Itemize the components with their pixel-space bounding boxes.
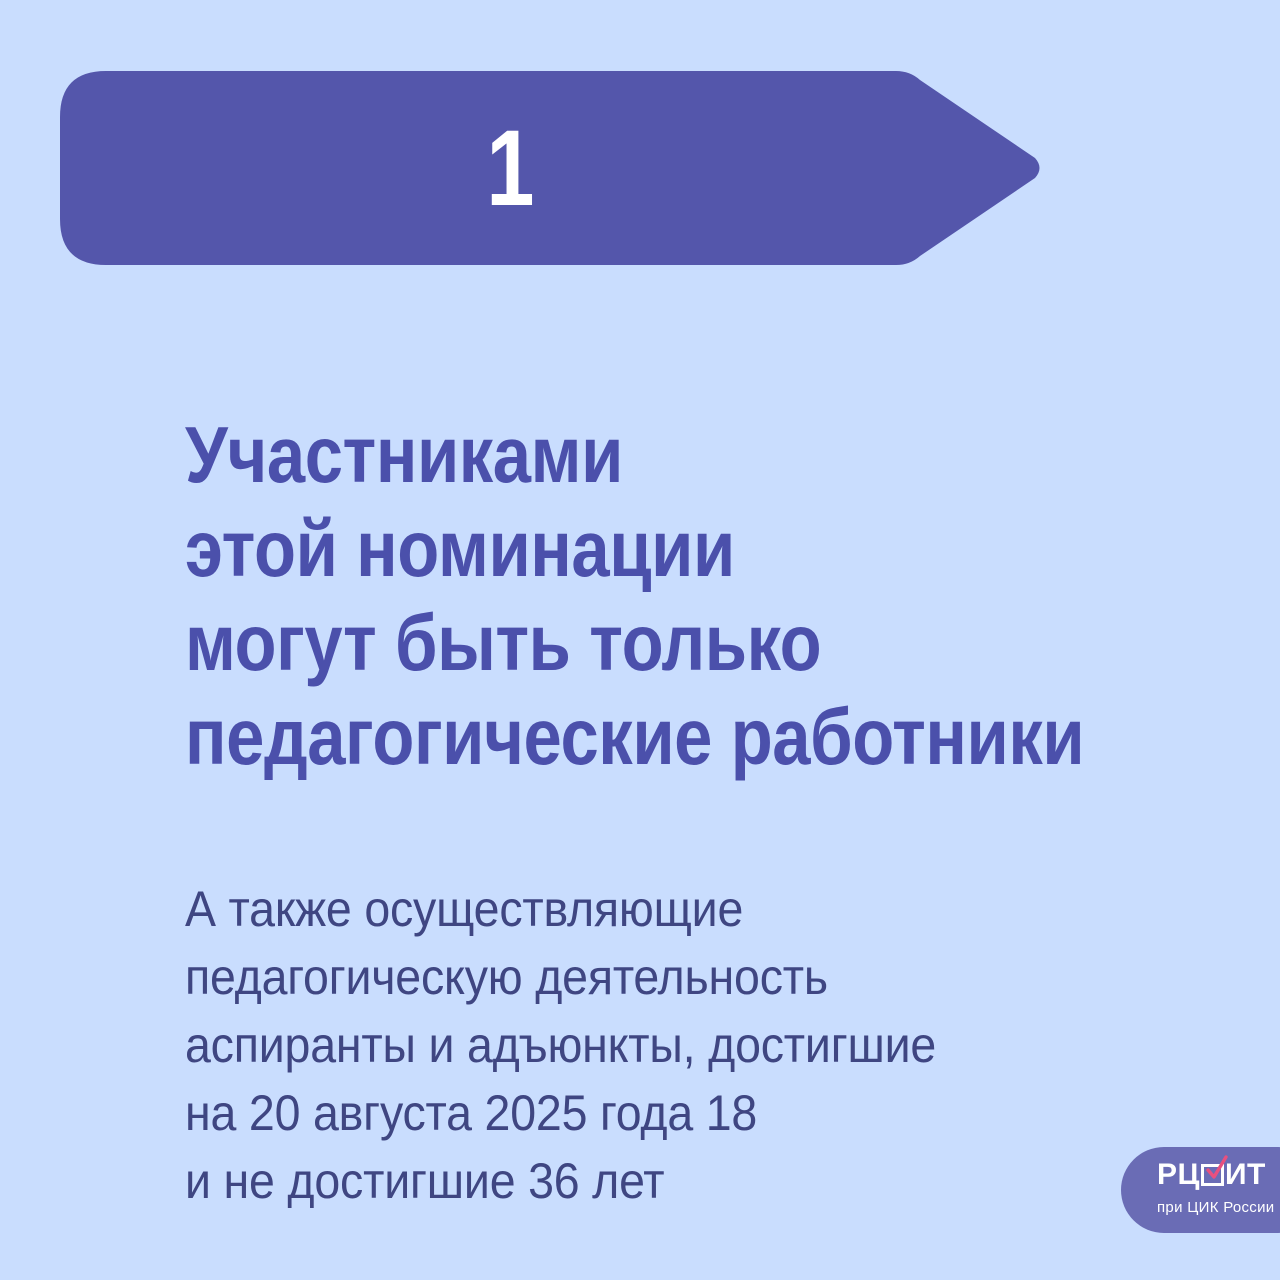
check-mark-icon xyxy=(1205,1155,1229,1181)
logo-wordmark-prefix: РЦ xyxy=(1157,1160,1200,1190)
headline-line-3: могут быть только xyxy=(185,596,1045,690)
logo-wordmark: РЦ ИТ xyxy=(1121,1160,1280,1194)
step-number-label: 1 xyxy=(150,71,870,265)
body-line-4: на 20 августа 2025 года 18 xyxy=(185,1079,1078,1147)
headline-line-1: Участниками xyxy=(185,408,1045,502)
body-line-1: А также осуществляющие xyxy=(185,875,1078,943)
ballot-box-check-icon xyxy=(1201,1164,1224,1186)
body-line-3: аспиранты и адъюнкты, достигшие xyxy=(185,1011,1078,1079)
slide-canvas: 1 Участниками этой номинации могут быть … xyxy=(0,0,1280,1280)
headline-line-4: педагогические работники xyxy=(185,690,1045,784)
logo-subtitle: при ЦИК России xyxy=(1121,1194,1280,1217)
body-line-5: и не достигшие 36 лет xyxy=(185,1147,1078,1215)
headline: Участниками этой номинации могут быть то… xyxy=(185,408,1185,784)
logo-badge: РЦ ИТ при ЦИК России xyxy=(1121,1147,1280,1233)
body-line-2: педагогическую деятельность xyxy=(185,943,1078,1011)
step-number-badge: 1 xyxy=(60,71,1044,265)
body-paragraph: А также осуществляющие педагогическую де… xyxy=(185,875,1145,1215)
logo-wordmark-suffix: ИТ xyxy=(1225,1160,1266,1190)
headline-line-2: этой номинации xyxy=(185,502,1045,596)
